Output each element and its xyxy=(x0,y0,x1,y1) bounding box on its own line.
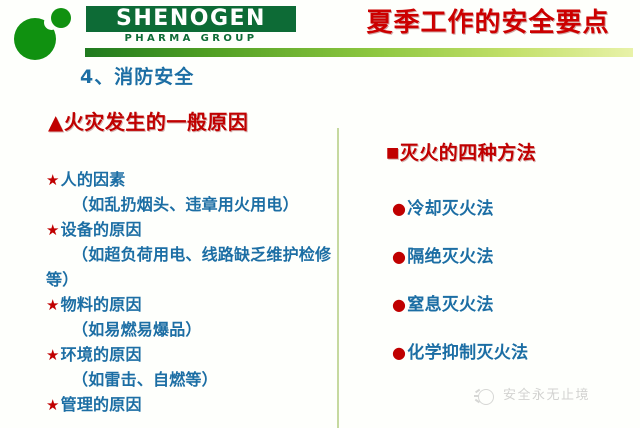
method-label: 冷却灭火法 xyxy=(407,199,494,219)
watermark-ring xyxy=(478,389,494,405)
extinguish-methods-heading: ■灭火的四种方法 xyxy=(386,140,536,166)
list-item: ●冷却灭火法 xyxy=(392,198,622,220)
dot-bullet-icon: ● xyxy=(392,247,406,266)
star-bullet-icon: ★ xyxy=(46,296,60,314)
slide-canvas: SHENOGEN PHARMA GROUP 夏季工作的安全要点 4、消防安全 ▲… xyxy=(0,0,640,428)
cause-title: ★设备的原因 xyxy=(46,218,332,242)
star-bullet-icon: ★ xyxy=(46,396,60,414)
header-divider-bar xyxy=(85,48,633,57)
list-item: ●隔绝灭火法 xyxy=(392,246,622,268)
cause-title: ★环境的原因 xyxy=(46,343,332,367)
section-heading: 4、消防安全 xyxy=(80,64,194,90)
cause-title: ★物料的原因 xyxy=(46,293,332,317)
cause-title-label: 人的因素 xyxy=(61,170,126,189)
slide-header: SHENOGEN PHARMA GROUP 夏季工作的安全要点 xyxy=(0,0,640,60)
dot-bullet-icon: ● xyxy=(392,295,406,314)
list-item: ★设备的原因 （如超负荷用电、线路缺乏维护检修等） xyxy=(46,218,332,292)
star-bullet-icon: ★ xyxy=(46,346,60,364)
list-item: ●窒息灭火法 xyxy=(392,294,622,316)
star-bullet-icon: ★ xyxy=(46,171,60,189)
list-item: ★环境的原因 （如雷击、自燃等） xyxy=(46,343,332,392)
extinguish-methods-list: ●冷却灭火法 ●隔绝灭火法 ●窒息灭火法 ●化学抑制灭火法 xyxy=(392,198,622,390)
logo-small-circle-icon xyxy=(51,8,71,28)
list-item: ★物料的原因 （如易燃易爆品） xyxy=(46,293,332,342)
list-item: ●化学抑制灭火法 xyxy=(392,342,622,364)
brand-subtitle: PHARMA GROUP xyxy=(86,32,296,45)
cause-detail: （如雷击、自燃等） xyxy=(46,367,332,392)
watermark-ray xyxy=(474,395,479,397)
cause-detail: （如易燃易爆品） xyxy=(46,317,332,342)
dot-bullet-icon: ● xyxy=(392,343,406,362)
watermark: 安全永无止境 xyxy=(476,386,590,406)
cause-title: ★管理的原因 xyxy=(46,393,332,417)
fire-causes-heading: ▲火灾发生的一般原因 xyxy=(48,108,248,136)
column-divider xyxy=(337,128,339,428)
cause-title-label: 环境的原因 xyxy=(61,345,142,364)
cause-title-label: 设备的原因 xyxy=(61,220,142,239)
dot-bullet-icon: ● xyxy=(392,199,406,218)
fire-causes-list: ★人的因素 （如乱扔烟头、违章用火用电） ★设备的原因 （如超负荷用电、线路缺乏… xyxy=(46,168,332,418)
list-item: ★人的因素 （如乱扔烟头、违章用火用电） xyxy=(46,168,332,217)
method-label: 化学抑制灭火法 xyxy=(407,343,528,363)
cause-title: ★人的因素 xyxy=(46,168,332,192)
brand-wordmark-banner: SHENOGEN xyxy=(86,6,296,32)
cause-detail: （如乱扔烟头、违章用火用电） xyxy=(46,192,332,217)
cause-detail: （如超负荷用电、线路缺乏维护检修等） xyxy=(46,242,332,292)
watermark-label: 安全永无止境 xyxy=(503,388,590,404)
page-title: 夏季工作的安全要点 xyxy=(348,6,628,40)
method-label: 窒息灭火法 xyxy=(407,295,494,315)
list-item: ★管理的原因 xyxy=(46,393,332,417)
star-bullet-icon: ★ xyxy=(46,221,60,239)
square-bullet-icon: ■ xyxy=(386,145,400,161)
brand-wordmark: SHENOGEN PHARMA GROUP xyxy=(86,6,296,46)
watermark-sun-icon xyxy=(476,386,496,406)
method-label: 隔绝灭火法 xyxy=(407,247,494,267)
brand-name: SHENOGEN xyxy=(116,8,266,30)
cause-title-label: 管理的原因 xyxy=(61,395,142,414)
cause-title-label: 物料的原因 xyxy=(61,295,142,314)
shenogen-logo-mark xyxy=(8,4,86,58)
extinguish-methods-heading-label: 灭火的四种方法 xyxy=(400,142,537,164)
